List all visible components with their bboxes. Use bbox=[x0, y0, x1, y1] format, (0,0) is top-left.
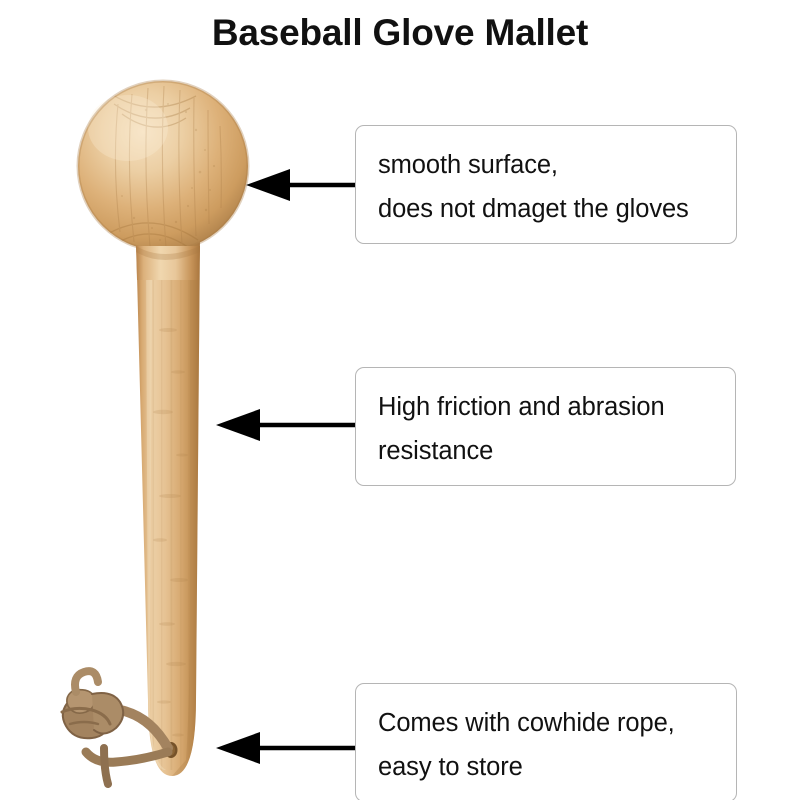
product-infographic: Baseball Glove Mallet bbox=[0, 0, 800, 800]
callout-line: Comes with cowhide rope, bbox=[378, 701, 736, 745]
callout-box-smooth-surface: smooth surface, does not dmaget the glov… bbox=[355, 125, 737, 244]
callout-line: easy to store bbox=[378, 745, 736, 789]
mallet-handle bbox=[136, 236, 200, 776]
mallet-head bbox=[78, 81, 248, 251]
callout-box-cowhide-rope: Comes with cowhide rope, easy to store bbox=[355, 683, 737, 800]
arrow-to-cowhide-rope bbox=[210, 728, 360, 768]
product-illustration bbox=[0, 0, 360, 800]
arrow-to-mallet-head bbox=[240, 165, 360, 205]
arrow-to-mallet-handle bbox=[210, 405, 360, 445]
callout-line: smooth surface, bbox=[378, 143, 736, 187]
callout-line: High friction and abrasion bbox=[378, 385, 735, 429]
callout-box-high-friction: High friction and abrasion resistance bbox=[355, 367, 736, 486]
callout-line: does not dmaget the gloves bbox=[378, 187, 736, 231]
mallet-neck bbox=[136, 246, 200, 280]
callout-line: resistance bbox=[378, 429, 735, 473]
mallet-illustration-svg bbox=[0, 0, 360, 800]
